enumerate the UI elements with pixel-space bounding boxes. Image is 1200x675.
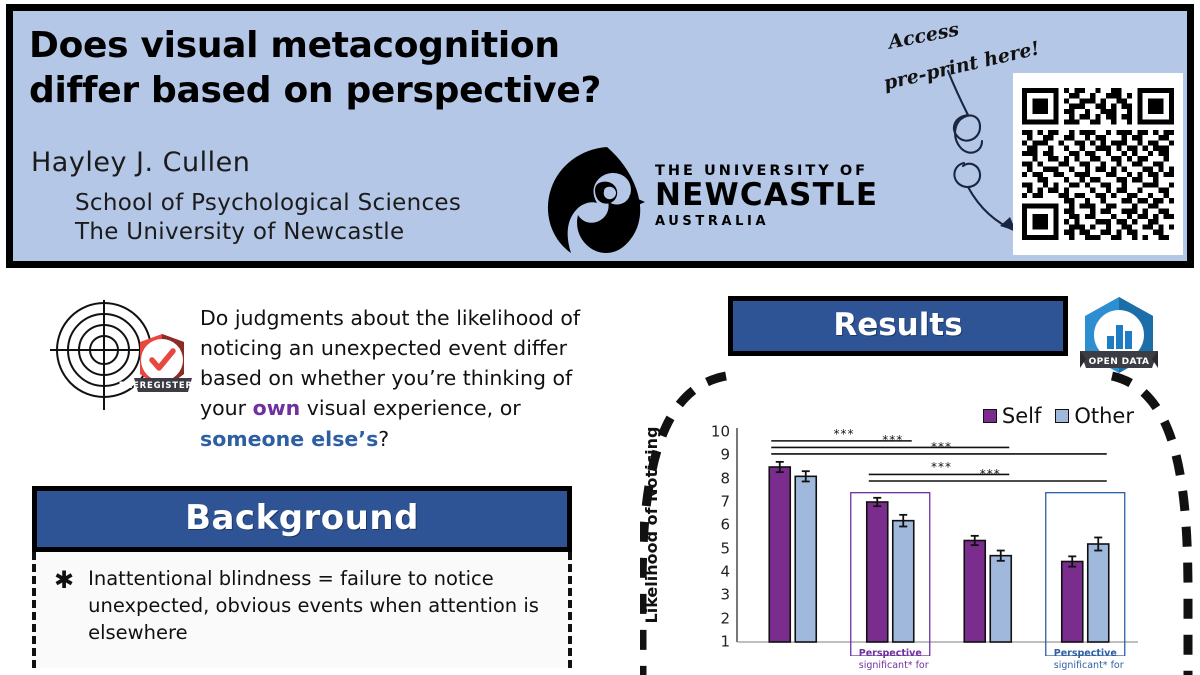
title-line-2: differ based on perspective? (29, 68, 749, 113)
background-bullet-text: Inattentional blindness = failure to not… (88, 566, 560, 647)
preregistered-badge-icon: PREREGISTERED (42, 298, 194, 416)
asterisk-bullet-icon: ✱ (54, 566, 74, 593)
qr-code-container[interactable] (1013, 73, 1183, 255)
intro-text-part-2: visual experience, or (300, 396, 520, 420)
university-logo: THE UNIVERSITY OF NEWCASTLE AUSTRALIA (529, 137, 849, 265)
background-bullet-list: ✱ Inattentional blindness = failure to n… (54, 566, 560, 647)
background-section: Background ✱ Inattentional blindness = f… (32, 486, 572, 668)
newcastle-horse-mark-icon (529, 139, 653, 263)
list-item: ✱ Inattentional blindness = failure to n… (54, 566, 560, 647)
y-axis-tick: 5 (720, 541, 730, 556)
logo-line-3: AUSTRALIA (655, 214, 878, 229)
results-heading: Results (728, 296, 1068, 356)
chart-bar (990, 556, 1011, 642)
chart-annotation-caption: Perspectivesignificant* for (1050, 646, 1128, 671)
results-chart: Self Other Likelihood of Noticing 123456… (700, 402, 1160, 674)
y-axis-tick: 2 (720, 611, 730, 626)
poster-canvas: Does visual metacognition differ based o… (0, 0, 1200, 675)
background-body: ✱ Inattentional blindness = failure to n… (32, 552, 572, 668)
chart-bar (964, 541, 985, 643)
intro-highlight-own: own (253, 396, 301, 420)
university-wordmark: THE UNIVERSITY OF NEWCASTLE AUSTRALIA (655, 163, 878, 229)
y-axis-tick: 3 (720, 588, 730, 603)
significance-stars: *** (931, 441, 952, 453)
y-axis-tick: 8 (720, 471, 730, 486)
background-heading: Background (32, 486, 572, 552)
significance-stars: *** (834, 428, 855, 440)
open-data-label: OPEN DATA (1089, 357, 1150, 367)
qr-code-preprint-icon[interactable] (1022, 82, 1174, 246)
chart-bar (1088, 544, 1109, 642)
chart-bar (769, 467, 790, 642)
significance-stars: *** (931, 461, 952, 473)
annotation-title: Perspective (859, 648, 929, 660)
y-axis-tick: 6 (720, 518, 730, 533)
significance-stars: *** (882, 434, 903, 446)
logo-line-2: NEWCASTLE (655, 179, 878, 212)
chart-bar (795, 476, 816, 642)
chart-bar (867, 502, 888, 642)
access-note-line-1: Access (887, 18, 961, 53)
results-section: Results OPEN DATA Self (640, 292, 1200, 675)
chart-y-axis-label: Likelihood of Noticing (644, 180, 664, 410)
chart-annotation-caption: Perspectivesignificant* for (855, 646, 933, 671)
y-axis-tick: 7 (720, 495, 730, 510)
author-name: Hayley J. Cullen (31, 147, 250, 178)
significance-stars: *** (980, 468, 1001, 480)
legend-swatch-self (983, 409, 997, 423)
legend-swatch-other (1055, 409, 1069, 423)
chart-bar (893, 521, 914, 642)
poster-header: Does visual metacognition differ based o… (6, 4, 1194, 268)
y-axis-tick: 4 (720, 565, 730, 580)
y-axis-tick: 9 (720, 448, 730, 463)
affiliation-line-1: School of Psychological Sciences (75, 189, 461, 218)
chart-svg (736, 424, 1140, 656)
open-data-badge-icon: OPEN DATA (1074, 294, 1164, 386)
affiliation-line-2: The University of Newcastle (75, 218, 461, 247)
annotation-subtitle: significant* for (1054, 660, 1124, 672)
intro-question: Do judgments about the likelihood of not… (200, 303, 600, 454)
intro-text-part-3: ? (378, 427, 389, 451)
y-axis-tick: 1 (720, 635, 730, 650)
annotation-title: Perspective (1054, 648, 1124, 660)
annotation-subtitle: significant* for (859, 660, 929, 672)
preregistered-badge-label: PREREGISTERED (119, 381, 194, 391)
affiliation: School of Psychological Sciences The Uni… (75, 189, 461, 248)
page-title: Does visual metacognition differ based o… (29, 23, 749, 114)
y-axis-tick: 10 (711, 425, 730, 440)
title-line-1: Does visual metacognition (29, 23, 749, 68)
chart-bar (1062, 562, 1083, 643)
intro-highlight-other: someone else’s (200, 427, 378, 451)
chart-plot-area: 12345678910Perspectivesignificant* forPe… (736, 424, 1140, 656)
